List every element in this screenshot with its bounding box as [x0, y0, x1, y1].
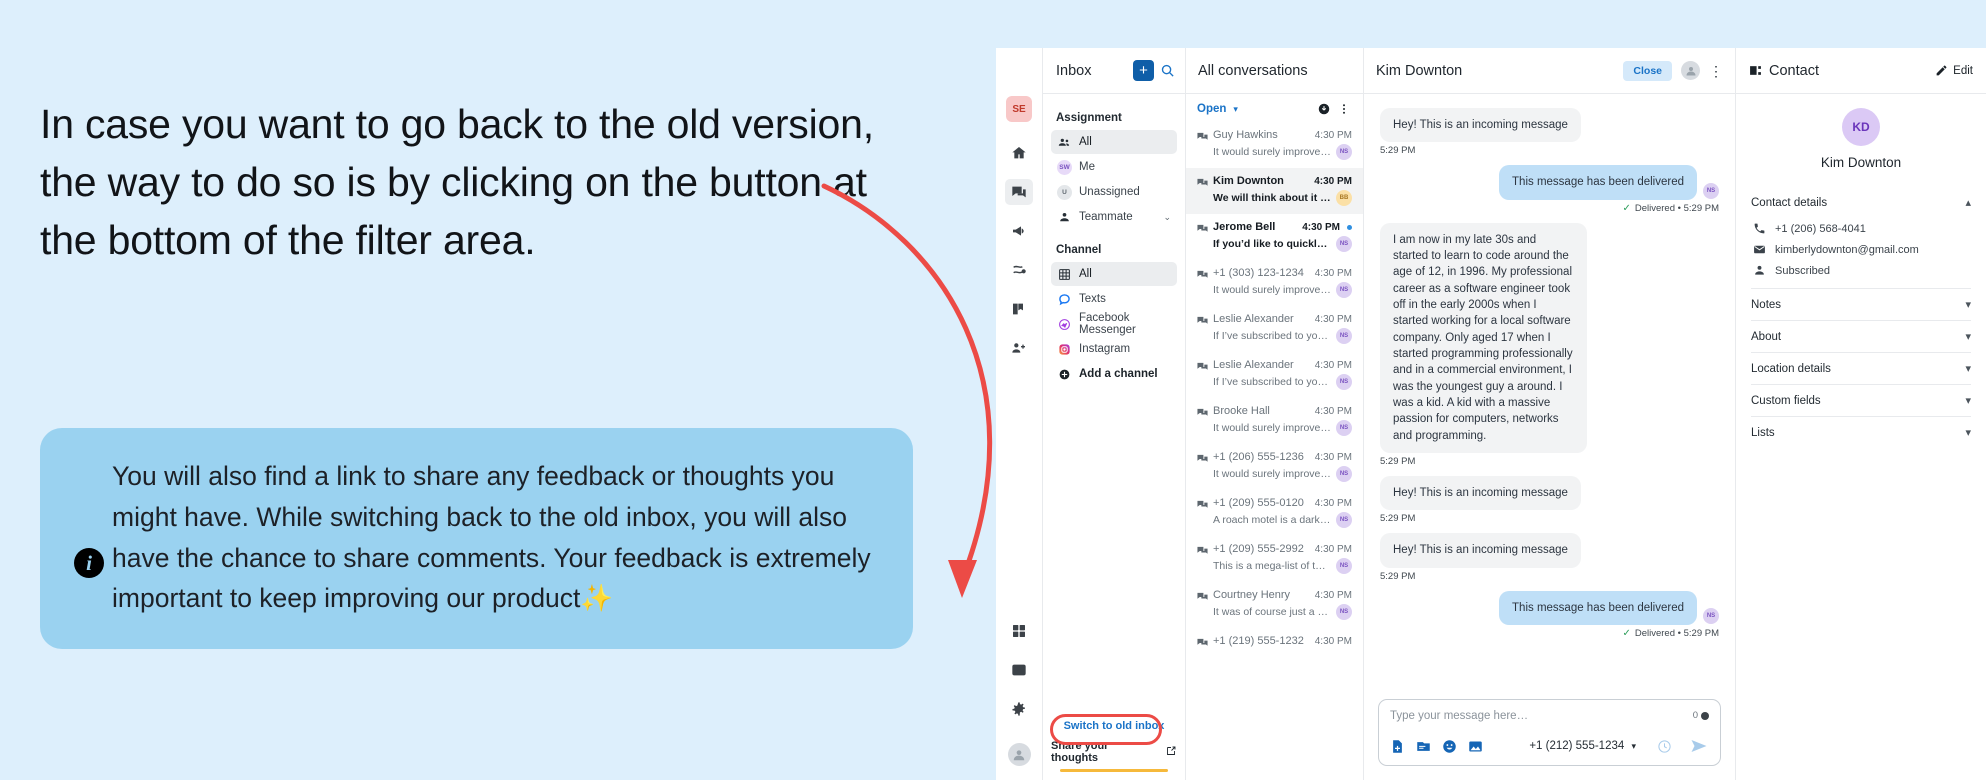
user-avatar[interactable] [1008, 743, 1031, 766]
conversation-time: 4:30 PM [1315, 268, 1352, 279]
conversation-avatar: NS [1336, 374, 1352, 390]
chevron-down-icon[interactable]: ▾ [1233, 104, 1238, 115]
messenger-icon [1057, 317, 1072, 332]
composer-input-row: Type your message here… 0 [1390, 710, 1709, 722]
conversation-preview: We will think about it and… [1213, 192, 1331, 204]
more-vertical-icon[interactable] [1336, 101, 1352, 117]
channel-icon [1197, 360, 1208, 371]
inbox-filter-panel: Inbox + Assignment All SW Me U Unassigne [1043, 48, 1186, 780]
accordion-label: Notes [1751, 299, 1781, 311]
conversation-rows: Guy Hawkins4:30 PMIt would surely improv… [1186, 122, 1363, 780]
person-icon [1057, 210, 1072, 225]
chat-message: Hey! This is an incoming message5:29 PM [1380, 533, 1719, 581]
conversation-time: 4:30 PM [1315, 544, 1352, 555]
send-icon[interactable] [1689, 736, 1709, 756]
conversation-name: +1 (219) 555-1232 [1213, 635, 1310, 647]
filter-item-label: Teammate [1079, 211, 1133, 223]
status-filter-open[interactable]: Open [1197, 103, 1226, 115]
conversation-row[interactable]: +1 (303) 123-12344:30 PMIt would surely … [1186, 260, 1363, 306]
avatar-badge: U [1057, 185, 1072, 200]
plus-circle-icon [1057, 367, 1072, 382]
contact-panel-header: Contact Edit [1736, 48, 1986, 94]
conversation-preview: It would surely improve typ… [1213, 284, 1331, 296]
conversation-avatar: NS [1336, 512, 1352, 528]
contact-panel-title: Contact [1769, 63, 1928, 79]
filter-item-label: Instagram [1079, 343, 1130, 355]
conversation-avatar: NS [1336, 558, 1352, 574]
delivered-check-icon: ✓ [1622, 628, 1630, 639]
info-icon: i [74, 548, 104, 578]
chevron-down-icon: ▾ [1965, 394, 1971, 407]
reports-icon[interactable] [1005, 657, 1033, 683]
contact-name: Kim Downton [1751, 155, 1971, 170]
conversation-time: 4:30 PM [1315, 406, 1352, 417]
conversation-row[interactable]: Guy Hawkins4:30 PMIt would surely improv… [1186, 122, 1363, 168]
rail-bottom-group [1005, 618, 1033, 780]
conversation-avatar: NS [1336, 604, 1352, 620]
conversation-row[interactable]: Brooke Hall4:30 PMIt would surely improv… [1186, 398, 1363, 444]
conversation-name: Leslie Alexander [1213, 359, 1310, 371]
channel-icon [1197, 130, 1208, 141]
message-bubble-incoming: Hey! This is an incoming message [1380, 476, 1581, 510]
filter-section-title-assignment: Assignment [1051, 104, 1177, 130]
campaigns-megaphone-icon[interactable] [1005, 218, 1033, 244]
conversation-time: 4:30 PM [1302, 222, 1340, 233]
image-icon[interactable] [1468, 739, 1483, 754]
conversation-list-title: All conversations [1186, 48, 1363, 94]
contact-avatar: KD [1842, 108, 1880, 146]
message-bubble-outgoing: This message has been delivered [1499, 591, 1697, 625]
download-icon[interactable] [1316, 101, 1332, 117]
conversation-avatar: NS [1336, 466, 1352, 482]
filter-item-label: All [1079, 136, 1092, 148]
contact-detail-value: kimberlydownton@gmail.com [1775, 244, 1919, 256]
from-number-value: +1 (212) 555-1234 [1529, 740, 1624, 752]
conversation-row[interactable]: +1 (219) 555-12324:30 PM [1186, 628, 1363, 658]
conversation-time: 4:30 PM [1315, 498, 1352, 509]
message-timestamp: 5:29 PM [1380, 513, 1719, 524]
conversation-preview: It would surely improve typ… [1213, 146, 1331, 158]
chevron-down-icon: ▾ [1965, 298, 1971, 311]
conversation-time: 4:30 PM [1315, 130, 1352, 141]
filter-item-label: All [1079, 268, 1092, 280]
conversation-preview: This is a mega-list of the m… [1213, 560, 1331, 572]
channel-icon [1197, 176, 1208, 187]
chevron-down-icon[interactable]: ⌄ [1163, 212, 1171, 223]
filter-item-label: Facebook Messenger [1079, 312, 1171, 336]
delivered-check-icon: ✓ [1622, 203, 1630, 214]
message-status: ✓Delivered • 5:29 PM [1380, 203, 1719, 214]
filter-item-channel-instagram[interactable]: Instagram [1051, 337, 1177, 361]
chevron-down-icon: ▾ [1631, 741, 1636, 751]
channel-icon [1197, 222, 1208, 233]
channel-icon [1197, 498, 1208, 509]
accordion-label: Custom fields [1751, 395, 1821, 407]
chat-header: Kim Downton Close ⋮ [1364, 48, 1735, 94]
search-icon[interactable] [1160, 63, 1175, 78]
accordion-custom-fields[interactable]: Custom fields ▾ [1751, 384, 1971, 416]
grid-icon [1057, 267, 1072, 282]
inbox-title: Inbox [1056, 63, 1127, 79]
accordion-label: Location details [1751, 363, 1831, 375]
conversation-avatar: BB [1336, 190, 1352, 206]
chat-messages: Hey! This is an incoming message5:29 PMT… [1364, 94, 1735, 699]
message-bubble-outgoing: This message has been delivered [1499, 165, 1697, 199]
email-icon [1753, 243, 1766, 256]
conversation-preview: It would surely improve typ… [1213, 468, 1331, 480]
attach-file-icon[interactable] [1390, 739, 1405, 754]
conversation-time: 4:30 PM [1315, 590, 1352, 601]
chat-panel: Kim Downton Close ⋮ Hey! This is an inco… [1364, 48, 1736, 780]
accordion-contact-details[interactable]: Contact details ▴ [1751, 187, 1971, 218]
message-bubble-incoming: Hey! This is an incoming message [1380, 533, 1581, 567]
accordion-about[interactable]: About ▾ [1751, 320, 1971, 352]
chat-message: I am now in my late 30s and started to l… [1380, 223, 1719, 467]
info-callout: You will also find a link to share any f… [40, 428, 913, 649]
contact-panel-icon [1749, 64, 1762, 77]
share-underline-annotation [1060, 769, 1168, 772]
conversation-row[interactable]: Leslie Alexander4:30 PMIf I’ve subscribe… [1186, 306, 1363, 352]
message-status-text: Delivered • 5:29 PM [1635, 203, 1719, 214]
conversation-avatar: NS [1336, 420, 1352, 436]
conversation-row[interactable]: Leslie Alexander4:30 PMIf I’ve subscribe… [1186, 352, 1363, 398]
settings-gear-icon[interactable] [1005, 696, 1033, 722]
chat-message: This message has been deliveredNS✓Delive… [1380, 165, 1719, 213]
message-composer[interactable]: Type your message here… 0 [1378, 699, 1721, 766]
conversation-time: 4:30 PM [1315, 314, 1352, 325]
chevron-down-icon: ▾ [1965, 330, 1971, 343]
accordion-label: Lists [1751, 427, 1775, 439]
message-input[interactable]: Type your message here… [1390, 710, 1693, 722]
channel-icon [1197, 544, 1208, 555]
character-count-value: 0 [1693, 710, 1698, 721]
share-label: Share your thoughts [1051, 740, 1158, 764]
unread-dot [1347, 225, 1352, 230]
contact-detail-email: kimberlydownton@gmail.com [1751, 239, 1971, 260]
accordion-lists[interactable]: Lists ▾ [1751, 416, 1971, 448]
close-conversation-button[interactable]: Close [1623, 61, 1672, 81]
conversation-name: +1 (209) 555-0120 [1213, 497, 1310, 509]
channel-icon [1197, 406, 1208, 417]
message-status-text: Delivered • 5:29 PM [1635, 628, 1719, 639]
conversation-time: 4:30 PM [1315, 452, 1352, 463]
channel-icon [1197, 636, 1208, 647]
saved-replies-icon[interactable] [1416, 739, 1431, 754]
contact-panel-body: KD Kim Downton Contact details ▴ +1 (206… [1736, 94, 1986, 448]
message-timestamp: 5:29 PM [1380, 571, 1719, 582]
more-vertical-icon[interactable]: ⋮ [1709, 64, 1723, 78]
message-bubble-incoming: I am now in my late 30s and started to l… [1380, 223, 1587, 453]
switch-to-old-inbox-button[interactable]: Switch to old inbox [1051, 712, 1177, 740]
conversation-name: Brooke Hall [1213, 405, 1310, 417]
channel-icon [1197, 452, 1208, 463]
automations-icon[interactable] [1005, 257, 1033, 283]
conversation-name: Courtney Henry [1213, 589, 1310, 601]
conversation-name: +1 (209) 555-2992 [1213, 543, 1310, 555]
conversation-name: Jerome Bell [1213, 221, 1297, 233]
external-link-icon [1165, 745, 1177, 760]
accordion-label: About [1751, 331, 1781, 343]
filter-item-assignment-unassigned[interactable]: U Unassigned [1051, 180, 1177, 204]
conversation-name: Leslie Alexander [1213, 313, 1310, 325]
filter-item-channel-texts[interactable]: Texts [1051, 287, 1177, 311]
conversation-row[interactable]: +1 (209) 555-01204:30 PMA roach motel is… [1186, 490, 1363, 536]
conversation-preview: A roach motel is a dark UX… [1213, 514, 1331, 526]
filter-panel-body: Assignment All SW Me U Unassigned Teamma… [1043, 94, 1185, 712]
chevron-down-icon: ▾ [1965, 362, 1971, 375]
conversation-avatar: NS [1336, 282, 1352, 298]
channel-icon [1197, 590, 1208, 601]
filter-section-title-channel: Channel [1051, 230, 1177, 262]
conversation-time: 4:30 PM [1315, 636, 1352, 647]
conversation-avatar: NS [1336, 144, 1352, 160]
conversation-preview: If I’ve subscribed to your pr… [1213, 330, 1331, 342]
filter-item-label: Me [1079, 161, 1095, 173]
workspace-avatar[interactable]: SE [1006, 96, 1032, 122]
channel-icon [1197, 268, 1208, 279]
clock-icon[interactable] [1656, 738, 1672, 754]
accordion-notes[interactable]: Notes ▾ [1751, 288, 1971, 320]
filter-panel-header: Inbox + [1043, 48, 1185, 94]
chat-message: Hey! This is an incoming message5:29 PM [1380, 108, 1719, 156]
chat-contact-name: Kim Downton [1376, 63, 1614, 79]
filter-item-label: Unassigned [1079, 186, 1140, 198]
conversation-preview: It would surely improve typ… [1213, 422, 1331, 434]
conversation-preview: It was of course just a plan… [1213, 606, 1331, 618]
contact-detail-value: +1 (206) 568-4041 [1775, 223, 1866, 235]
chat-message: Hey! This is an incoming message5:29 PM [1380, 476, 1719, 524]
app-window: SE [996, 48, 1986, 780]
conversation-row[interactable]: Kim Downton4:30 PMWe will think about it… [1186, 168, 1363, 214]
message-status: ✓Delivered • 5:29 PM [1380, 628, 1719, 639]
from-number-select[interactable]: +1 (212) 555-1234 ▾ [1529, 740, 1636, 752]
info-dot-icon [1701, 712, 1709, 720]
conversation-avatar: NS [1336, 236, 1352, 252]
filter-item-assignment-me[interactable]: SW Me [1051, 155, 1177, 179]
contact-detail-subscription: Subscribed [1751, 260, 1971, 281]
contacts-people-icon[interactable] [1005, 335, 1033, 361]
sender-avatar: NS [1703, 183, 1719, 199]
texts-icon [1057, 292, 1072, 307]
filter-item-label: Texts [1079, 293, 1106, 305]
filter-item-channel-facebook-messenger[interactable]: Facebook Messenger [1051, 312, 1177, 336]
conversation-list-toolbar: Open ▾ [1186, 94, 1363, 122]
avatar-badge: SW [1057, 160, 1072, 175]
edit-contact-button[interactable]: Edit [1935, 64, 1973, 77]
chat-message: This message has been deliveredNS✓Delive… [1380, 591, 1719, 639]
filter-panel-footer: Switch to old inbox Share your thoughts [1043, 712, 1185, 780]
slide-headline: In case you want to go back to the old v… [40, 95, 920, 270]
message-timestamp: 5:29 PM [1380, 456, 1719, 467]
accordion-label: Contact details [1751, 197, 1827, 209]
emoji-icon[interactable] [1442, 739, 1457, 754]
composer-toolbar: +1 (212) 555-1234 ▾ [1390, 736, 1709, 756]
person-icon [1753, 264, 1766, 277]
group-icon [1057, 135, 1072, 150]
pencil-icon [1935, 64, 1948, 77]
filter-item-assignment-teammate[interactable]: Teammate ⌄ [1051, 205, 1177, 229]
knowledge-book-icon[interactable] [1005, 296, 1033, 322]
phone-icon [1753, 222, 1766, 235]
assignee-avatar[interactable] [1681, 61, 1700, 80]
character-count: 0 [1693, 710, 1709, 721]
sender-avatar: NS [1703, 608, 1719, 624]
conversation-name: +1 (303) 123-1234 [1213, 267, 1310, 279]
chevron-up-icon: ▴ [1965, 196, 1971, 209]
home-icon[interactable] [1005, 140, 1033, 166]
inbox-chat-icon[interactable] [1005, 179, 1033, 205]
filter-item-assignment-all[interactable]: All [1051, 130, 1177, 154]
share-your-thoughts-link[interactable]: Share your thoughts [1051, 740, 1177, 767]
apps-grid-icon[interactable] [1005, 618, 1033, 644]
filter-item-add-a-channel[interactable]: Add a channel [1051, 362, 1177, 386]
slide-left-pane: In case you want to go back to the old v… [0, 0, 990, 780]
conversation-row[interactable]: +1 (209) 555-29924:30 PMThis is a mega-l… [1186, 536, 1363, 582]
conversation-row[interactable]: +1 (206) 555-12364:30 PMIt would surely … [1186, 444, 1363, 490]
conversation-row[interactable]: Courtney Henry4:30 PMIt was of course ju… [1186, 582, 1363, 628]
conversation-time: 4:30 PM [1315, 360, 1352, 371]
conversation-time: 4:30 PM [1314, 176, 1352, 187]
contact-details-panel: Contact Edit KD Kim Downton Contact deta… [1736, 48, 1986, 780]
new-conversation-button[interactable]: + [1133, 60, 1154, 81]
edit-label: Edit [1953, 65, 1973, 77]
filter-item-channel-all[interactable]: All [1051, 262, 1177, 286]
instagram-icon [1057, 342, 1072, 357]
filter-item-label: Add a channel [1079, 368, 1158, 380]
chevron-down-icon: ▾ [1965, 426, 1971, 439]
conversation-preview: If I’ve subscribed to your pr… [1213, 376, 1331, 388]
conversation-avatar: NS [1336, 328, 1352, 344]
conversation-name: Guy Hawkins [1213, 129, 1310, 141]
app-icon-rail: SE [996, 48, 1043, 780]
message-bubble-incoming: Hey! This is an incoming message [1380, 108, 1581, 142]
channel-icon [1197, 314, 1208, 325]
conversation-row[interactable]: Jerome Bell4:30 PMIf you’d like to quick… [1186, 214, 1363, 260]
info-callout-text: You will also find a link to share any f… [112, 456, 879, 619]
conversation-preview: If you’d like to quickly cre… [1213, 238, 1331, 250]
message-timestamp: 5:29 PM [1380, 145, 1719, 156]
conversation-name: Kim Downton [1213, 175, 1309, 187]
conversation-name: +1 (206) 555-1236 [1213, 451, 1310, 463]
accordion-location-details[interactable]: Location details ▾ [1751, 352, 1971, 384]
conversation-list-panel: All conversations Open ▾ Guy Hawkins4:30… [1186, 48, 1364, 780]
contact-detail-phone: +1 (206) 568-4041 [1751, 218, 1971, 239]
contact-detail-value: Subscribed [1775, 265, 1830, 277]
